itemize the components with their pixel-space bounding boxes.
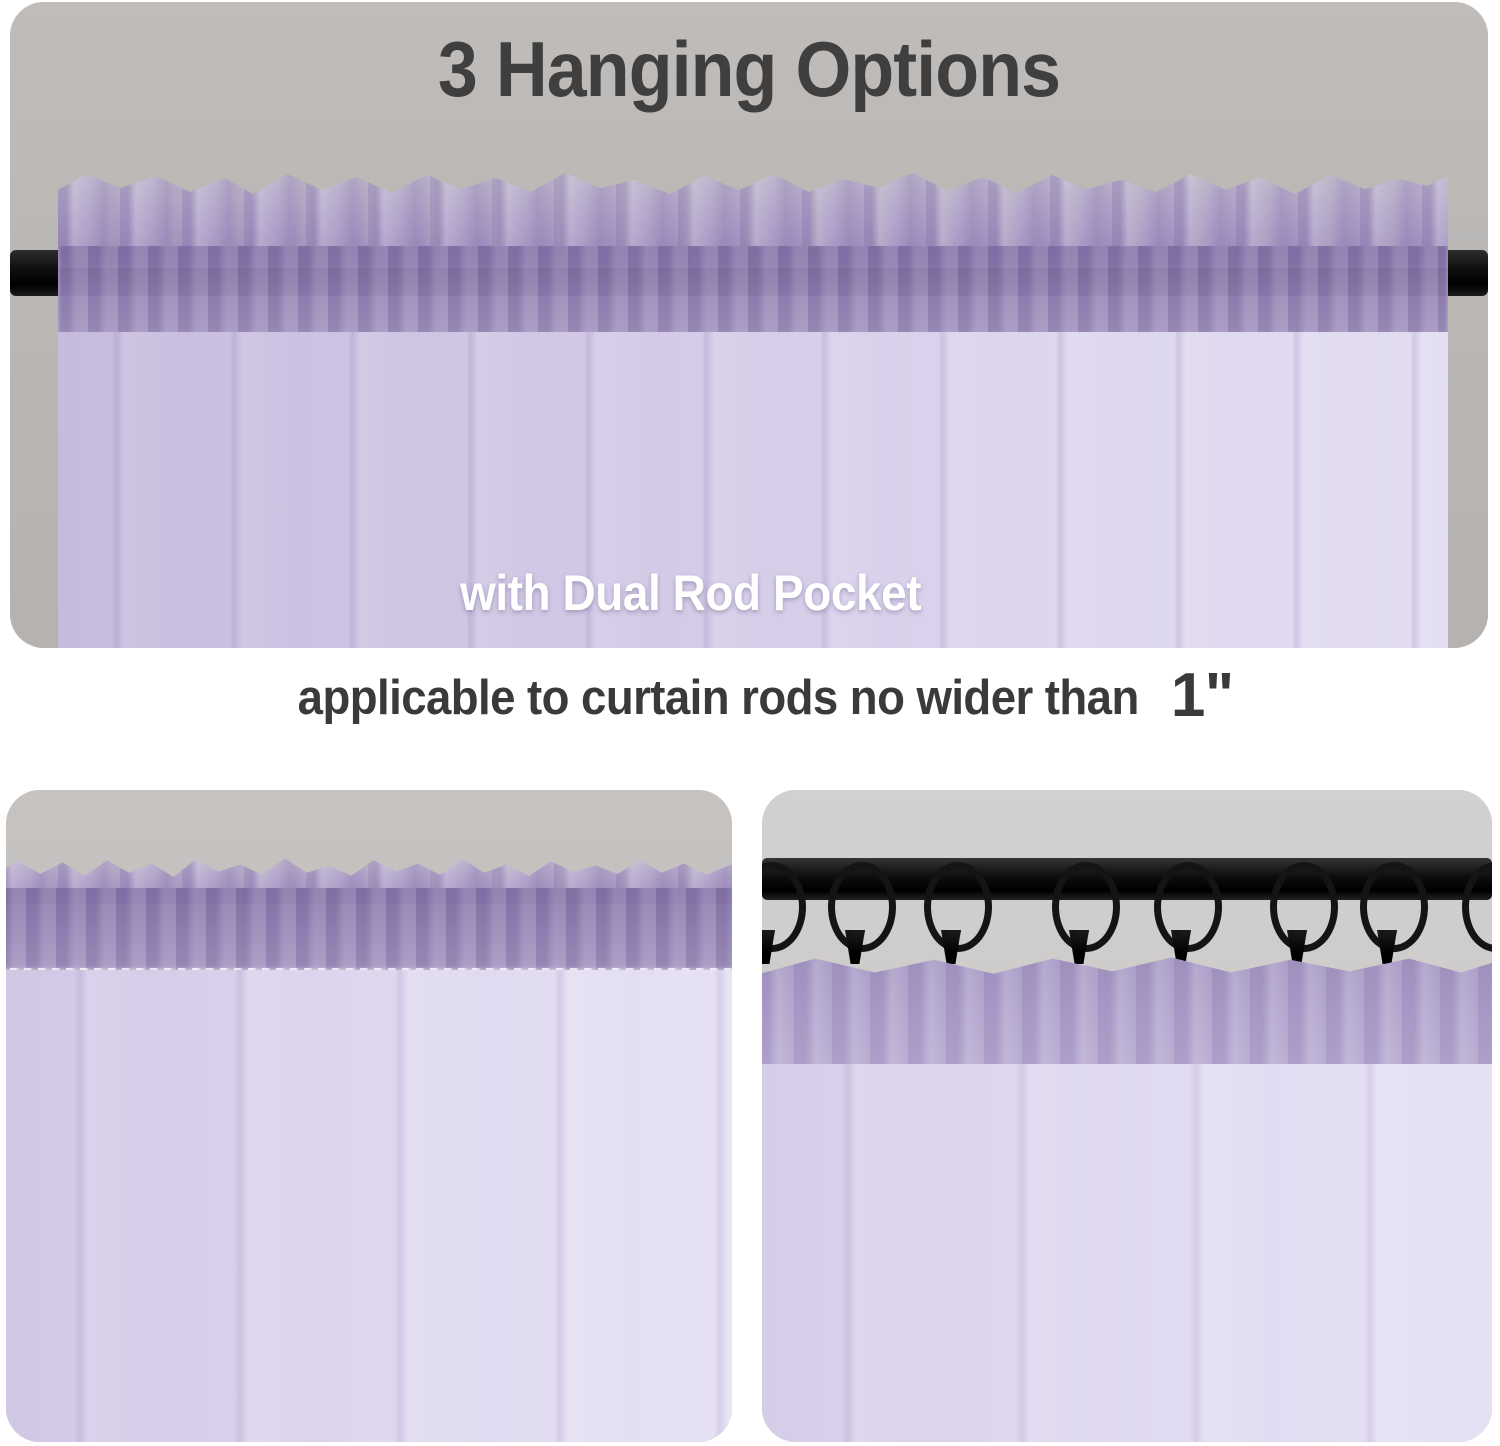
panel-with-clips: with Clips(not included) [762, 790, 1492, 1442]
rod-width-measure: 1" [1171, 661, 1234, 730]
curtain-with-clips [762, 954, 1492, 1442]
page-title: 3 Hanging Options [69, 24, 1429, 115]
curtain-fabric-body [762, 1064, 1492, 1442]
panel-pole-top: Pole Top -with bottom hem [6, 790, 732, 1442]
rod-pocket-icon [58, 246, 1448, 338]
rod-pocket-icon [6, 888, 732, 972]
rod-width-note: applicable to curtain rods no wider than… [0, 660, 1500, 731]
curtain-fabric-body [6, 970, 732, 1442]
rod-width-note-text: applicable to curtain rods no wider than [298, 670, 1139, 726]
panel-dual-rod-pocket: 3 Hanging Options with Dual Rod Pocket [10, 2, 1488, 648]
caption-dual-rod-pocket: with Dual Rod Pocket [460, 564, 921, 622]
curtain-header-band [762, 954, 1492, 1070]
curtain-pole-top [6, 852, 732, 1442]
